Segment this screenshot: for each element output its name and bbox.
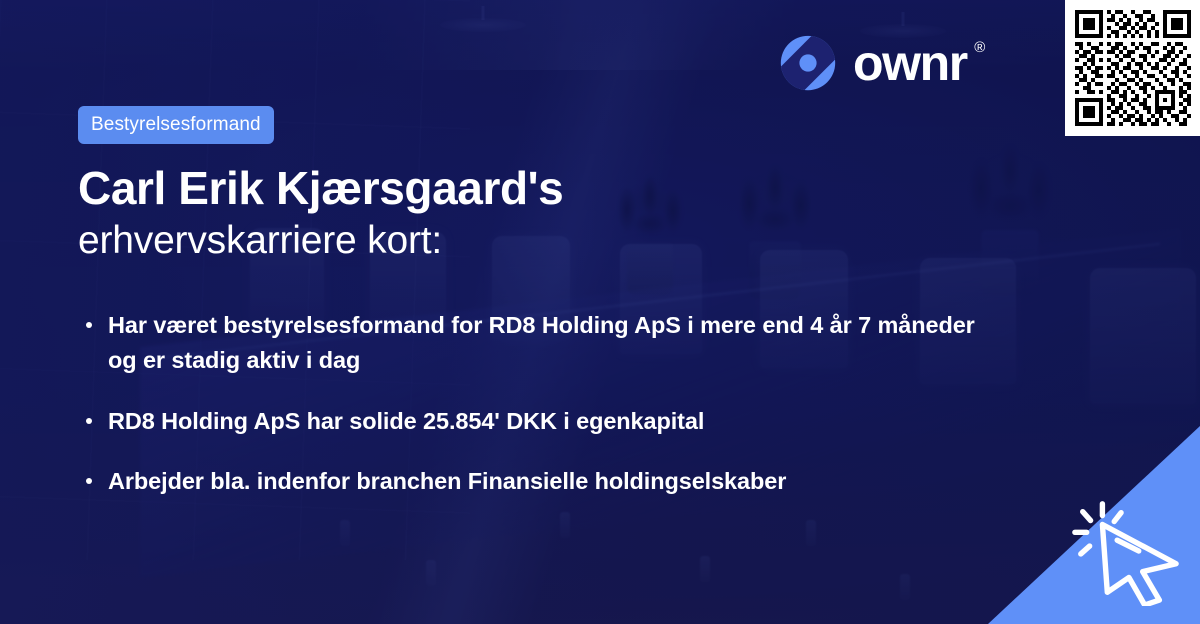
list-item-text: Har været bestyrelsesformand for RD8 Hol… <box>108 312 975 373</box>
career-highlights-list: Har været bestyrelsesformand for RD8 Hol… <box>82 308 982 499</box>
list-item-text: RD8 Holding ApS har solide 25.854' DKK i… <box>108 408 704 434</box>
ownr-swirl-circle-icon <box>779 34 837 92</box>
bullet-dot-icon <box>86 478 92 484</box>
list-item-text: Arbejder bla. indenfor branchen Finansie… <box>108 468 786 494</box>
list-item: Har været bestyrelsesformand for RD8 Hol… <box>82 308 982 378</box>
qr-code-icon[interactable] <box>1075 10 1191 126</box>
social-share-card: ownr ® <box>0 0 1200 624</box>
bullet-dot-icon <box>86 322 92 328</box>
ownr-wordmark-text: ownr <box>853 35 967 91</box>
qr-code-panel[interactable] <box>1065 0 1200 136</box>
list-item: RD8 Holding ApS har solide 25.854' DKK i… <box>82 404 982 439</box>
ownr-wordmark: ownr ® <box>853 38 967 88</box>
role-badge: Bestyrelsesformand <box>78 106 274 144</box>
registered-trademark-icon: ® <box>974 40 984 55</box>
headline-block: Bestyrelsesformand Carl Erik Kjærsgaard'… <box>78 106 958 264</box>
ownr-logo: ownr ® <box>779 34 967 92</box>
list-item: Arbejder bla. indenfor branchen Finansie… <box>82 464 982 499</box>
page-title: Carl Erik Kjærsgaard's <box>78 163 958 215</box>
bullet-dot-icon <box>86 418 92 424</box>
click-cursor-icon <box>1066 494 1184 606</box>
page-subtitle: erhvervskarriere kort: <box>78 218 958 264</box>
